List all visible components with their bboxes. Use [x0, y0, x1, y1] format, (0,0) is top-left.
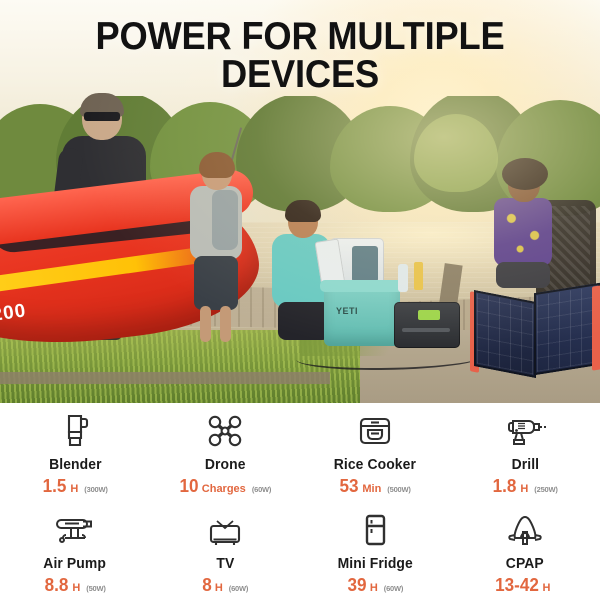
curb — [0, 372, 330, 384]
value-number: 1.8 — [493, 476, 517, 497]
device-value: 53 Min (500W) — [339, 476, 410, 497]
device-value: 39 H (60W) — [347, 575, 403, 596]
cooler-lid — [320, 280, 404, 292]
device-value: 10 Charges (60W) — [179, 476, 271, 497]
device-card-blender: Blender 1.5 H (300W) — [0, 403, 150, 502]
device-name: Drone — [205, 457, 246, 473]
solar-panel — [470, 282, 600, 374]
device-name: Blender — [49, 457, 102, 473]
value-watt: (50W) — [86, 584, 105, 593]
boy-fishing — [188, 156, 244, 342]
value-watt: (60W) — [384, 584, 403, 593]
device-value: 1.5 H (300W) — [42, 476, 107, 497]
device-value: 8 H (60W) — [202, 575, 248, 596]
value-unit: H — [543, 582, 551, 594]
device-name: TV — [216, 556, 234, 572]
value-number: 8 — [202, 575, 212, 596]
device-runtime-grid: Blender 1.5 H (300W) Drone 10 Charges — [0, 403, 600, 600]
value-number: 39 — [347, 575, 366, 596]
drone-icon — [205, 411, 245, 451]
value-number: 13-42 — [495, 575, 539, 596]
cpap-icon — [502, 510, 548, 550]
value-unit: Charges — [202, 483, 246, 495]
device-name: Rice Cooker — [334, 457, 416, 473]
drink-can — [414, 262, 423, 290]
promo-poster: RER 200 YETI — [0, 0, 600, 600]
water-bottle — [398, 264, 408, 292]
rice-cooker-icon — [355, 411, 395, 451]
value-number: 53 — [340, 476, 359, 497]
device-name: CPAP — [506, 556, 544, 572]
value-unit: H — [215, 582, 223, 594]
value-watt: (500W) — [387, 485, 410, 494]
drill-icon — [503, 411, 547, 451]
value-unit: Min — [362, 483, 381, 495]
air-pump-icon — [52, 510, 98, 550]
fridge-interior — [352, 246, 378, 282]
value-number: 1.5 — [43, 476, 67, 497]
value-number: 10 — [179, 476, 198, 497]
device-value: 13-42 H — [494, 575, 557, 596]
device-card-rice-cooker: Rice Cooker 53 Min (500W) — [300, 403, 450, 502]
value-unit: H — [370, 582, 378, 594]
device-card-drone: Drone 10 Charges (60W) — [150, 403, 300, 502]
value-watt: (60W) — [229, 584, 248, 593]
device-card-cpap: CPAP 13-42 H — [450, 502, 600, 600]
value-watt: (300W) — [84, 485, 107, 494]
blender-icon — [55, 411, 95, 451]
page-title: POWER FOR MULTIPLE DEVICES — [21, 18, 579, 94]
device-card-mini-fridge: Mini Fridge 39 H (60W) — [300, 502, 450, 600]
value-number: 8.8 — [45, 575, 69, 596]
value-watt: (250W) — [534, 485, 557, 494]
title-line-1: POWER FOR MULTIPLE — [95, 15, 504, 58]
mini-fridge-icon — [355, 510, 395, 550]
value-unit: H — [72, 582, 80, 594]
device-name: Mini Fridge — [337, 556, 412, 572]
device-name: Air Pump — [44, 556, 107, 572]
tv-icon — [204, 510, 246, 550]
value-unit: H — [520, 483, 528, 495]
value-watt: (60W) — [252, 485, 271, 494]
title-line-2: DEVICES — [21, 56, 579, 94]
device-value: 8.8 H (50W) — [44, 575, 105, 596]
device-value: 1.8 H (250W) — [492, 476, 557, 497]
device-name: Drill — [511, 457, 539, 473]
power-station — [394, 302, 460, 348]
value-unit: H — [70, 483, 78, 495]
device-card-drill: Drill 1.8 H (250W) — [450, 403, 600, 502]
device-card-tv: TV 8 H (60W) — [150, 502, 300, 600]
device-card-air-pump: Air Pump 8.8 H (50W) — [0, 502, 150, 600]
cooler-label: YETI — [336, 306, 358, 316]
